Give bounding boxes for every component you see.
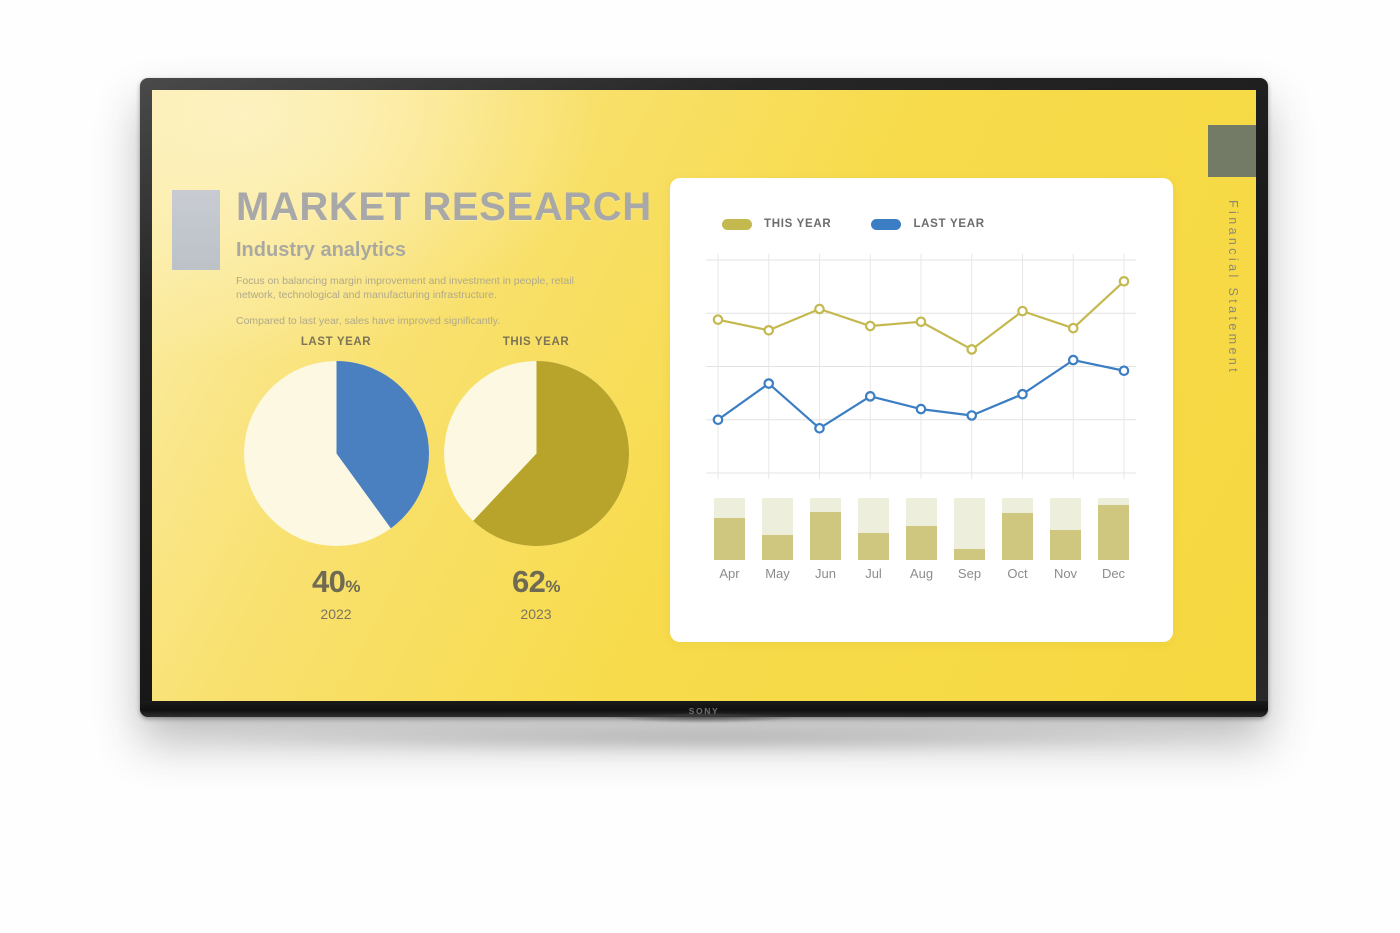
legend-swatch-icon [722, 219, 752, 230]
month-label: Sep [954, 566, 985, 581]
pie-percent-value: 62 [512, 564, 545, 599]
legend-swatch-icon [871, 219, 901, 230]
month-label: Oct [1002, 566, 1033, 581]
bar-column [1002, 498, 1033, 560]
pie-chart-last-year [244, 361, 429, 546]
month-label: Aug [906, 566, 937, 581]
bar-fill [1002, 513, 1033, 560]
body-paragraph-2: Compared to last year, sales have improv… [236, 314, 616, 328]
pie-caption-this-year: THIS YEAR [436, 336, 636, 348]
legend-item-last-year: LAST YEAR [871, 218, 984, 230]
side-vertical-label: Financial Statement [1218, 200, 1248, 500]
sony-tv-device: MARKET RESEARCH Industry analytics Focus… [140, 78, 1268, 717]
pie-chart-group: LAST YEAR 40% 2022 THIS YEAR [236, 336, 706, 636]
bar-chart [714, 498, 1129, 560]
month-label: May [762, 566, 793, 581]
bar-column [714, 498, 745, 560]
screenshot-root: MARKET RESEARCH Industry analytics Focus… [0, 0, 1400, 933]
bar-fill [714, 518, 745, 560]
page-subtitle: Industry analytics [236, 239, 706, 262]
month-label: Nov [1050, 566, 1081, 581]
presentation-slide: MARKET RESEARCH Industry analytics Focus… [152, 90, 1256, 701]
bar-column [762, 498, 793, 560]
line-chart [706, 254, 1136, 479]
body-paragraph-1: Focus on balancing margin improvement an… [236, 274, 616, 303]
side-label-text: Financial Statement [1226, 200, 1240, 375]
pie-svg-last-year [244, 361, 429, 546]
bar-fill [1098, 505, 1129, 560]
pie-chart-this-year [444, 361, 629, 546]
tv-drop-shadow [175, 724, 1235, 754]
bar-fill [1050, 530, 1081, 560]
pie-year-this-year: 2023 [436, 606, 636, 622]
month-label: Dec [1098, 566, 1129, 581]
tv-stand [599, 714, 809, 723]
bar-fill [954, 549, 985, 560]
bar-column [858, 498, 889, 560]
pie-caption-last-year: LAST YEAR [236, 336, 436, 348]
chart-card: THIS YEAR LAST YEAR AprMayJunJulAugSepOc… [670, 178, 1173, 642]
month-label: Jul [858, 566, 889, 581]
pie-percent-last-year: 40% [236, 564, 436, 600]
pie-block-last-year: LAST YEAR 40% 2022 [236, 336, 436, 622]
pie-block-this-year: THIS YEAR 62% 2023 [436, 336, 636, 622]
olive-accent-square [1208, 125, 1256, 177]
bar-column [1098, 498, 1129, 560]
bar-column [810, 498, 841, 560]
page-title: MARKET RESEARCH [236, 186, 706, 228]
legend-label-last-year: LAST YEAR [913, 218, 984, 230]
pie-year-last-year: 2022 [236, 606, 436, 622]
legend-label-this-year: THIS YEAR [764, 218, 831, 230]
bar-column [906, 498, 937, 560]
pie-percent-value: 40 [312, 564, 345, 599]
month-axis-labels: AprMayJunJulAugSepOctNovDec [714, 566, 1129, 586]
bar-column [954, 498, 985, 560]
bar-fill [858, 533, 889, 560]
pie-percent-unit: % [545, 577, 560, 596]
pie-percent-unit: % [345, 577, 360, 596]
month-label: Jun [810, 566, 841, 581]
chart-legend: THIS YEAR LAST YEAR [722, 218, 985, 230]
bar-fill [810, 512, 841, 560]
month-label: Apr [714, 566, 745, 581]
bar-fill [906, 526, 937, 560]
bar-fill [762, 535, 793, 560]
tv-screen: MARKET RESEARCH Industry analytics Focus… [152, 90, 1256, 701]
pie-svg-this-year [444, 361, 629, 546]
bar-column [1050, 498, 1081, 560]
grey-accent-rectangle [172, 190, 220, 270]
pie-percent-this-year: 62% [436, 564, 636, 600]
legend-item-this-year: THIS YEAR [722, 218, 831, 230]
slide-left-column: MARKET RESEARCH Industry analytics Focus… [236, 186, 706, 328]
